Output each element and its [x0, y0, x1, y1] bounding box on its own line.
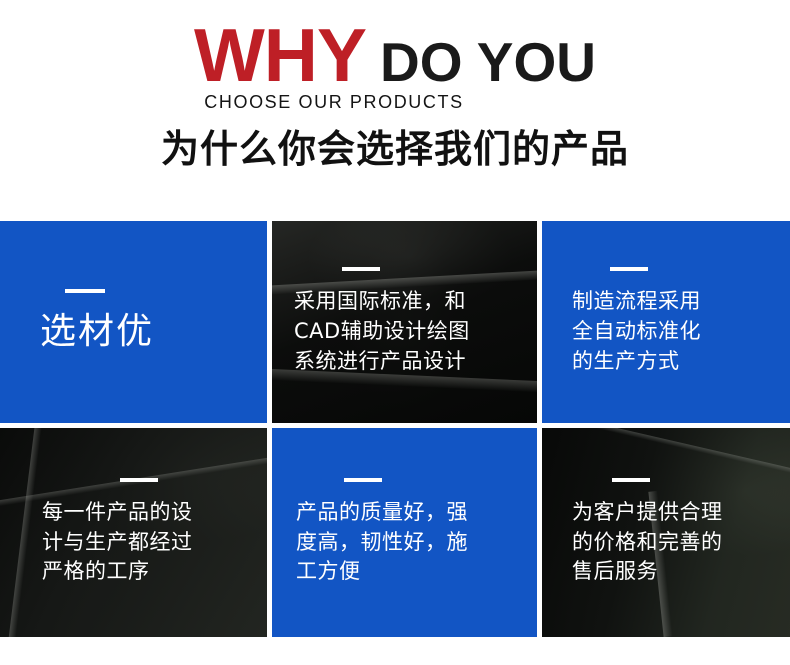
divider-dash-icon — [610, 267, 648, 271]
feature-card-3-content: 制造流程采用 全自动标准化 的生产方式 — [542, 267, 790, 376]
feature-card-4[interactable]: 每一件产品的设 计与生产都经过 严格的工序 — [0, 428, 267, 637]
feature-card-4-content: 每一件产品的设 计与生产都经过 严格的工序 — [0, 478, 267, 587]
headline-subtitle-english: CHOOSE OUR PRODUCTS — [0, 92, 790, 113]
headline-highlight-word: WHY — [194, 18, 366, 93]
headline-rest: DO YOU — [380, 35, 596, 90]
feature-card-2-content: 采用国际标准，和 CAD辅助设计绘图 系统进行产品设计 — [272, 267, 537, 376]
divider-dash-icon — [342, 267, 380, 271]
feature-card-5-text: 产品的质量好，强 度高，韧性好，施 工方便 — [296, 498, 525, 587]
footer-whitespace — [0, 637, 790, 665]
feature-card-3-text: 制造流程采用 全自动标准化 的生产方式 — [572, 287, 778, 376]
feature-card-1[interactable]: 选材优 — [0, 221, 267, 423]
divider-dash-icon — [612, 478, 650, 482]
page-header: WHY DO YOU CHOOSE OUR PRODUCTS 为什么你会选择我们… — [0, 0, 790, 221]
feature-grid: 选材优 采用国际标准，和 CAD辅助设计绘图 系统进行产品设计 制造流程采用 全… — [0, 221, 790, 637]
feature-card-6-text: 为客户提供合理 的价格和完善的 售后服务 — [572, 498, 778, 587]
promo-page: WHY DO YOU CHOOSE OUR PRODUCTS 为什么你会选择我们… — [0, 0, 790, 665]
feature-card-3[interactable]: 制造流程采用 全自动标准化 的生产方式 — [542, 221, 790, 423]
feature-card-1-text: 选材优 — [40, 309, 267, 356]
headline-subtitle-chinese: 为什么你会选择我们的产品 — [0, 126, 790, 174]
feature-card-2-text: 采用国际标准，和 CAD辅助设计绘图 系统进行产品设计 — [294, 287, 525, 376]
feature-card-5[interactable]: 产品的质量好，强 度高，韧性好，施 工方便 — [272, 428, 537, 637]
feature-card-4-text: 每一件产品的设 计与生产都经过 严格的工序 — [42, 498, 255, 587]
feature-card-2[interactable]: 采用国际标准，和 CAD辅助设计绘图 系统进行产品设计 — [272, 221, 537, 423]
feature-card-5-content: 产品的质量好，强 度高，韧性好，施 工方便 — [272, 478, 537, 587]
headline: WHY DO YOU — [0, 18, 790, 98]
feature-card-1-content: 选材优 — [0, 289, 267, 356]
feature-card-6[interactable]: 为客户提供合理 的价格和完善的 售后服务 — [542, 428, 790, 637]
divider-dash-icon — [65, 289, 105, 293]
divider-dash-icon — [120, 478, 158, 482]
divider-dash-icon — [344, 478, 382, 482]
feature-card-6-content: 为客户提供合理 的价格和完善的 售后服务 — [542, 478, 790, 587]
